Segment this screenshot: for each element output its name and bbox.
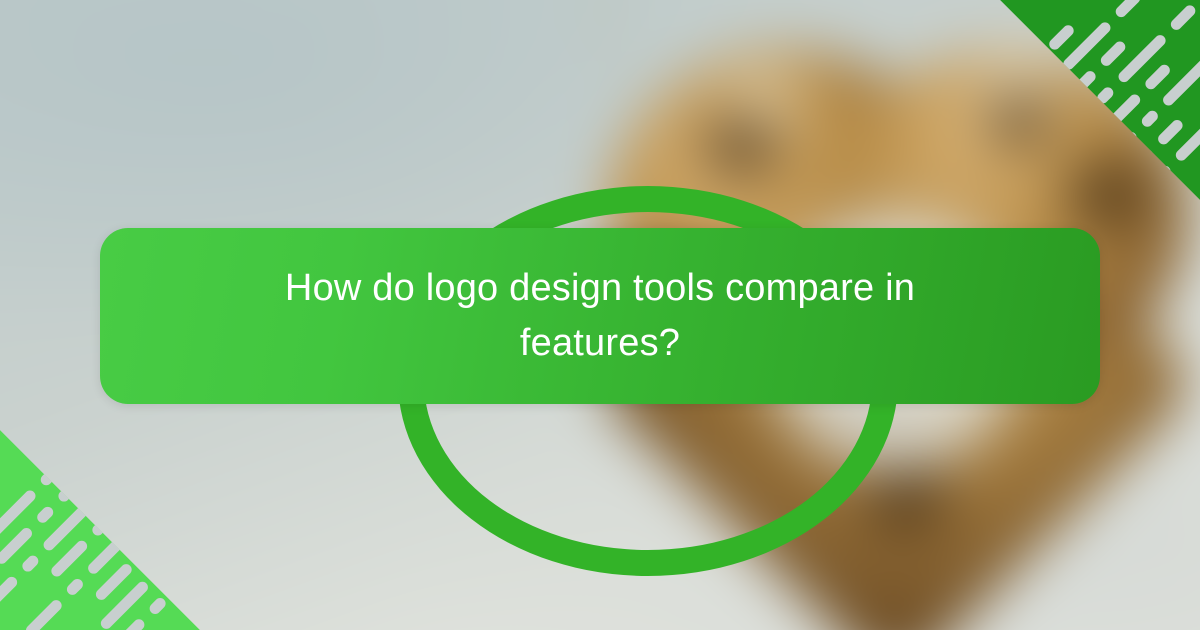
headline-banner: How do logo design tools compare in feat… xyxy=(100,228,1100,404)
headline-text: How do logo design tools compare in feat… xyxy=(250,261,950,371)
wood-knot xyxy=(695,114,786,180)
social-card: How do logo design tools compare in feat… xyxy=(0,0,1200,630)
corner-decoration-top-right xyxy=(1000,0,1200,200)
corner-decoration-bottom-left xyxy=(0,430,200,630)
